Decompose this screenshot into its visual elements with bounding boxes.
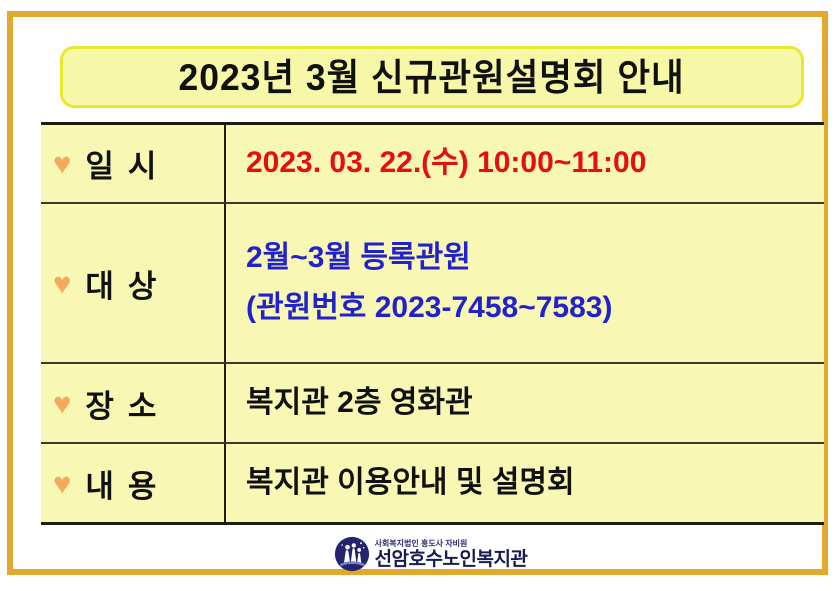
label-cell-datetime: ♥ 일시: [41, 124, 225, 204]
heart-icon: ♥: [53, 148, 71, 179]
heart-icon: ♥: [53, 468, 71, 499]
poster-page: 2023년 3월 신규관원설명회 안내 ♥ 일시 2023. 03. 22.(수…: [0, 0, 835, 591]
page-title: 2023년 3월 신규관원설명회 안내: [179, 59, 685, 96]
place-value: 복지관 2층 영화관: [246, 383, 824, 424]
row-label-target: 대상: [85, 261, 170, 306]
row-label-content: 내용: [85, 461, 170, 506]
target-value-line-1: 2월~3월 등록관원: [246, 238, 824, 279]
welfare-center-emblem-icon: [334, 536, 370, 572]
row-label-place: 장소: [85, 381, 170, 426]
heart-icon: ♥: [53, 388, 71, 419]
table-row-datetime: ♥ 일시 2023. 03. 22.(수) 10:00~11:00: [41, 124, 824, 204]
info-table: ♥ 일시 2023. 03. 22.(수) 10:00~11:00 ♥ 대상: [41, 122, 824, 525]
organization-logo: 사회복지법인 흥도사 자비원 선암호수노인복지관: [334, 536, 528, 572]
table-row-place: ♥ 장소 복지관 2층 영화관: [41, 363, 824, 443]
value-cell-datetime: 2023. 03. 22.(수) 10:00~11:00: [225, 124, 824, 204]
heart-icon: ♥: [53, 268, 71, 299]
table-row-content: ♥ 내용 복지관 이용안내 및 설명회: [41, 443, 824, 524]
table-row-target: ♥ 대상 2월~3월 등록관원 (관원번호 2023-7458~7583): [41, 203, 824, 363]
footer-logo-area: 사회복지법인 흥도사 자비원 선암호수노인복지관: [13, 536, 835, 572]
value-cell-place: 복지관 2층 영화관: [225, 363, 824, 443]
poster-title-banner: 2023년 3월 신규관원설명회 안내: [60, 46, 804, 108]
value-cell-content: 복지관 이용안내 및 설명회: [225, 443, 824, 524]
datetime-value: 2023. 03. 22.(수) 10:00~11:00: [246, 143, 824, 184]
target-value-line-2: (관원번호 2023-7458~7583): [246, 288, 824, 329]
content-value: 복지관 이용안내 및 설명회: [246, 463, 824, 504]
organization-name: 선암호수노인복지관: [375, 550, 528, 569]
row-label-datetime: 일시: [85, 141, 170, 186]
value-cell-target: 2월~3월 등록관원 (관원번호 2023-7458~7583): [225, 203, 824, 363]
label-cell-place: ♥ 장소: [41, 363, 225, 443]
organization-text-block: 사회복지법인 흥도사 자비원 선암호수노인복지관: [375, 540, 528, 569]
label-cell-content: ♥ 내용: [41, 443, 225, 524]
label-cell-target: ♥ 대상: [41, 203, 225, 363]
poster-gold-frame: 2023년 3월 신규관원설명회 안내 ♥ 일시 2023. 03. 22.(수…: [7, 11, 828, 575]
organization-subtitle: 사회복지법인 흥도사 자비원: [375, 540, 528, 548]
